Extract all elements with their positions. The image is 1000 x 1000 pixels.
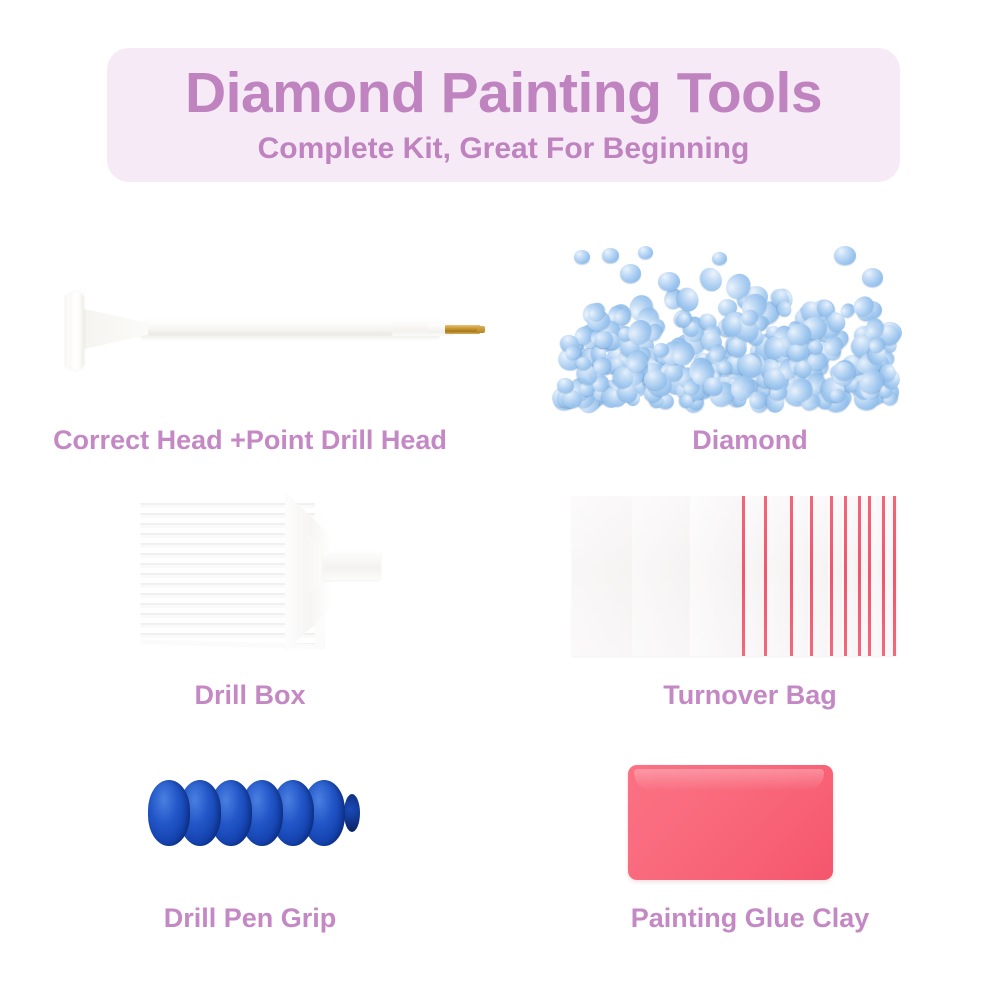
drill-bead bbox=[574, 250, 590, 264]
diamond-drills-figure bbox=[562, 242, 892, 402]
caption-pen-grip: Drill Pen Grip bbox=[0, 903, 500, 934]
caption-drill-box: Drill Box bbox=[0, 680, 500, 711]
bag-zip-stripe bbox=[830, 496, 833, 656]
drill-bead bbox=[712, 252, 727, 265]
bag-zip-stripe bbox=[742, 496, 745, 656]
caption-correct-head: Correct Head +Point Drill Head bbox=[0, 425, 500, 456]
product-cell-correct-head: Correct Head +Point Drill Head bbox=[0, 230, 500, 470]
drill-bead bbox=[638, 246, 653, 259]
bag-zip-stripe bbox=[790, 496, 793, 656]
drill-pile bbox=[562, 242, 892, 402]
page-subtitle: Complete Kit, Great For Beginning bbox=[258, 132, 750, 166]
pen-gold-tip bbox=[445, 325, 480, 334]
caption-diamond: Diamond bbox=[500, 425, 1000, 456]
pen-point-drill-head-icon bbox=[477, 326, 485, 333]
bag-zip-stripe bbox=[893, 496, 896, 656]
correction-pen-figure bbox=[40, 270, 490, 390]
drill-tray-figure bbox=[135, 490, 385, 655]
product-cell-pen-grip: Drill Pen Grip bbox=[0, 745, 500, 960]
bag-zip-stripe bbox=[810, 496, 813, 656]
product-cell-diamond: Diamond bbox=[500, 230, 1000, 470]
turnover-bag-figure bbox=[572, 492, 902, 662]
bag-zip-stripe bbox=[858, 496, 861, 656]
drill-bead bbox=[696, 264, 726, 295]
bag-zip-stripe bbox=[764, 496, 767, 656]
grip-rib bbox=[148, 780, 190, 846]
bag-panel bbox=[572, 496, 632, 656]
drill-bead bbox=[620, 264, 641, 283]
product-cell-drill-box: Drill Box bbox=[0, 480, 500, 730]
header-banner: Diamond Painting Tools Complete Kit, Gre… bbox=[107, 48, 900, 182]
bag-panel bbox=[742, 496, 764, 656]
tray-handle bbox=[323, 550, 381, 580]
bag-zip-stripe bbox=[868, 496, 871, 656]
product-cell-glue-clay: Painting Glue Clay bbox=[500, 745, 1000, 960]
pen-grip-figure bbox=[148, 780, 358, 860]
caption-turnover-bag: Turnover Bag bbox=[500, 680, 1000, 711]
glue-clay-figure bbox=[628, 765, 833, 880]
grip-end-opening bbox=[344, 794, 360, 832]
bag-panel bbox=[690, 496, 742, 656]
drill-bead bbox=[602, 248, 619, 263]
bag-zip-stripe bbox=[882, 496, 885, 656]
drill-bead bbox=[862, 268, 883, 287]
bag-zip-stripe bbox=[844, 496, 847, 656]
clay-gloss-highlight bbox=[634, 769, 824, 791]
bag-panel bbox=[632, 496, 690, 656]
drill-bead bbox=[834, 246, 856, 265]
bag-panel bbox=[764, 496, 790, 656]
caption-glue-clay: Painting Glue Clay bbox=[500, 903, 1000, 934]
pen-correct-head-edge bbox=[66, 294, 71, 368]
product-cell-turnover-bag: Turnover Bag bbox=[500, 480, 1000, 730]
page-title: Diamond Painting Tools bbox=[185, 64, 822, 124]
pen-neck bbox=[80, 308, 148, 350]
